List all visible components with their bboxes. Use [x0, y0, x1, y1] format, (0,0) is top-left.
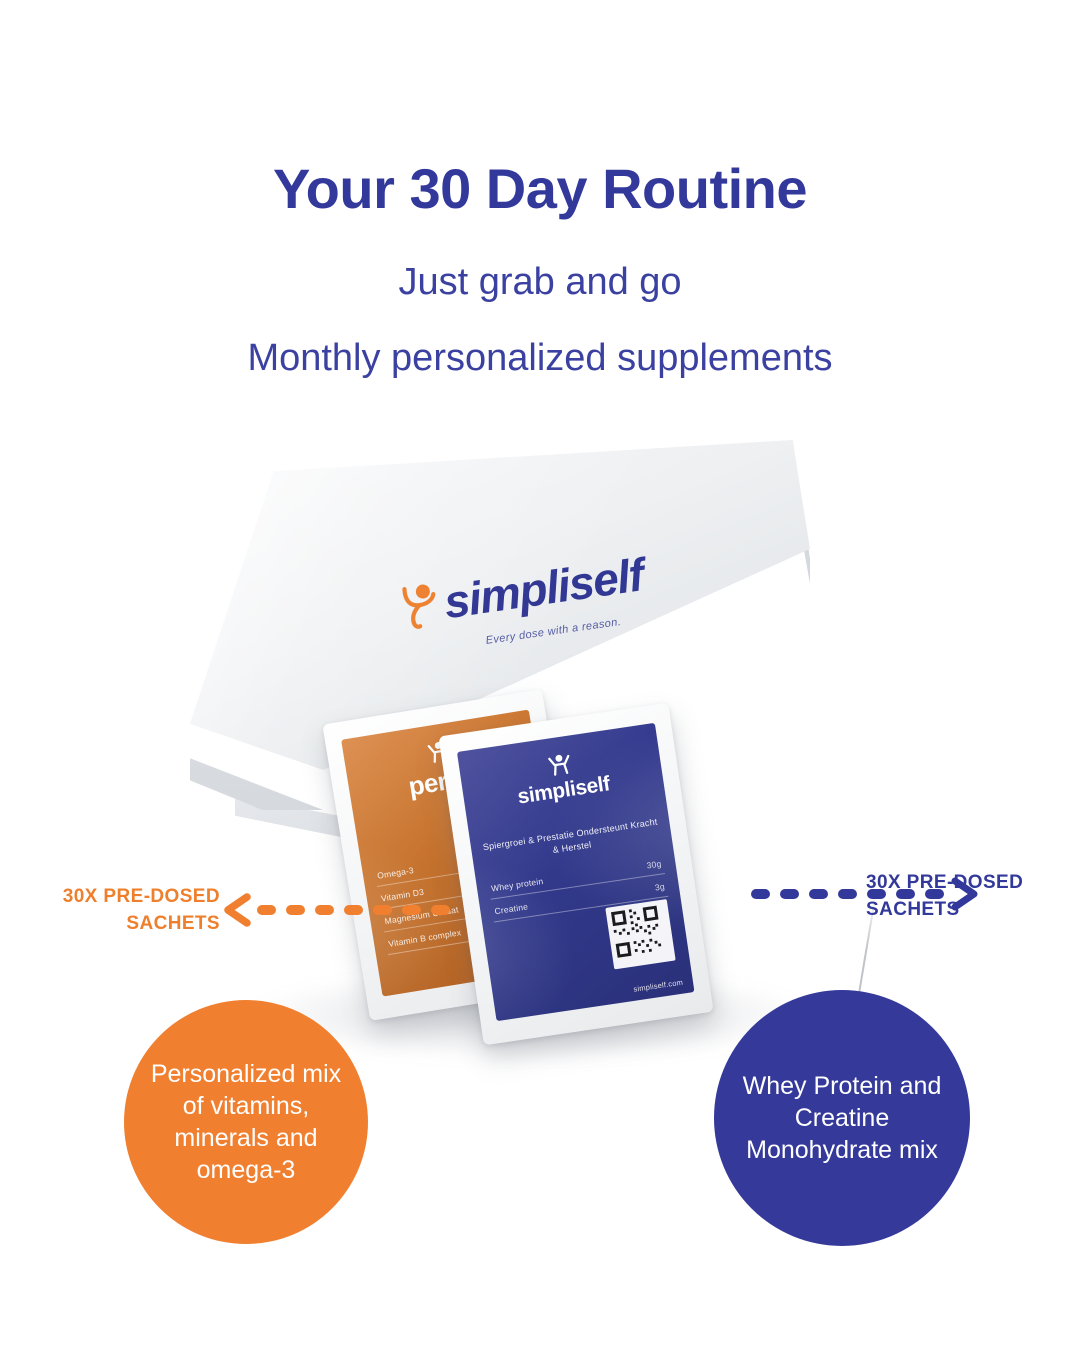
callout-arrow-left	[222, 893, 455, 927]
person-figure-icon	[398, 580, 443, 631]
arrow-dash	[344, 905, 363, 915]
sachet-logo-blue: simpliself	[459, 739, 664, 818]
ingredient-name: Omega-3	[377, 865, 415, 881]
page-title: Your 30 Day Routine	[0, 160, 1080, 219]
ingredient-name: Vitamin B complex	[388, 927, 462, 949]
arrow-dash	[751, 889, 770, 899]
qr-code-icon	[605, 899, 675, 969]
sachet-label-blue: simpliself Spiergroei & Prestatie Onders…	[457, 723, 695, 1021]
arrow-dash	[257, 905, 276, 915]
arrow-dash	[373, 905, 392, 915]
arrow-dash	[431, 905, 450, 915]
ingredient-name: Creatine	[494, 901, 529, 916]
arrow-dash	[315, 905, 334, 915]
sachet-wordmark-blue: simpliself	[516, 772, 611, 809]
ingredient-name: Whey protein	[490, 876, 543, 894]
promo-canvas: Your 30 Day Routine Just grab and go Mon…	[0, 0, 1080, 1350]
subheading-secondary: Monthly personalized supplements	[0, 338, 1080, 380]
arrow-dash	[838, 889, 857, 899]
person-figure-icon	[545, 751, 574, 779]
ingredient-amount: 30g	[646, 858, 662, 870]
subheading-primary: Just grab and go	[0, 262, 1080, 304]
arrow-dash	[402, 905, 421, 915]
chevron-left-icon	[222, 893, 252, 927]
product-photo: simpliself Every dose with a reason. per…	[130, 430, 950, 1050]
arrow-dash	[286, 905, 305, 915]
feature-circle-blue: Whey Protein and Creatine Monohydrate mi…	[714, 990, 970, 1246]
feature-circle-orange: Personalized mix of vitamins, minerals a…	[124, 1000, 368, 1244]
arrow-dash	[809, 889, 828, 899]
recovery-sachet: simpliself Spiergroei & Prestatie Onders…	[438, 703, 713, 1046]
feature-circle-blue-text: Whey Protein and Creatine Monohydrate mi…	[732, 1070, 952, 1166]
arrow-dash	[780, 889, 799, 899]
callout-label-right: 30X PRE-DOSED SACHETS	[866, 870, 1066, 924]
feature-circle-orange-text: Personalized mix of vitamins, minerals a…	[142, 1058, 350, 1186]
callout-label-left: 30X PRE-DOSED SACHETS	[40, 884, 220, 938]
sachet-website-blue: simpliself.com	[633, 978, 684, 994]
ingredient-amount: 3g	[654, 881, 665, 892]
